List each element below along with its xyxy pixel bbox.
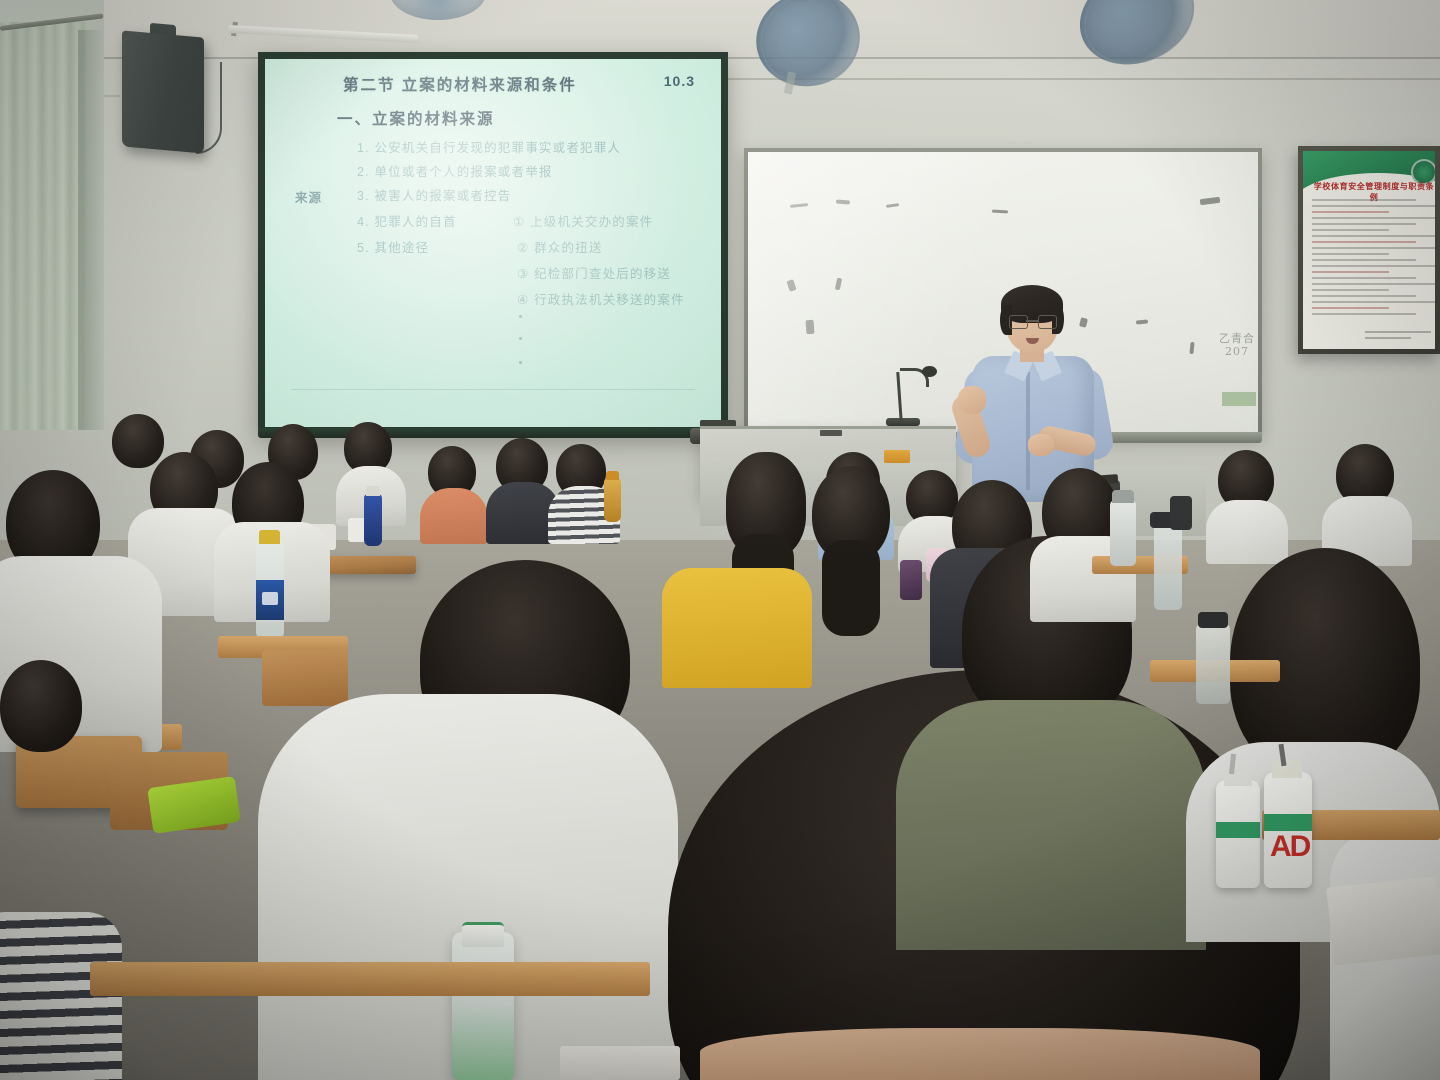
- smartphone[interactable]: [900, 560, 922, 600]
- slide-bullet-dot: [519, 361, 522, 364]
- slide-title: 第二节 立案的材料来源和条件: [343, 73, 643, 95]
- student-torso-yellow: [662, 568, 812, 688]
- classroom-photo: 第二节 立案的材料来源和条件 10.3 一、立案的材料来源 来源 1. 公安机关…: [0, 0, 1440, 1080]
- blue-thermos: [364, 494, 382, 546]
- ad-milk-logo-text: AD: [1270, 832, 1309, 862]
- bottle-cap: [259, 530, 280, 544]
- slide-heading: 一、立案的材料来源: [337, 107, 495, 129]
- open-notebook: [1326, 876, 1440, 965]
- microphone-head[interactable]: [922, 366, 937, 377]
- ceiling: [0, 0, 1440, 58]
- bottle-cap: [606, 471, 619, 480]
- paper-sheet: [560, 1046, 680, 1080]
- projection-screen: 第二节 立案的材料来源和条件 10.3 一、立案的材料来源 来源 1. 公安机关…: [265, 59, 721, 427]
- bottle-cap: [1198, 612, 1228, 628]
- water-bottle: [1154, 524, 1182, 610]
- water-bottle: [1110, 500, 1136, 566]
- water-bottle-foreground: [452, 932, 514, 1080]
- student-ponytail: [822, 540, 880, 636]
- wall-poster-frame: 学校体育安全管理制度与职责条例: [1298, 146, 1440, 354]
- microphone-base[interactable]: [886, 418, 920, 426]
- slide-left-item-5: 5. 其他途径: [357, 237, 429, 256]
- slide-left-item-4: 4. 犯罪人的自首: [357, 211, 457, 230]
- whiteboard-green-tab: [1222, 392, 1256, 406]
- wall-speaker: [122, 30, 204, 153]
- bottle-label-mark: [262, 592, 278, 605]
- student-head: [112, 414, 164, 468]
- wall-poster: 学校体育安全管理制度与职责条例: [1303, 151, 1435, 349]
- slide-right-item-2: ② 群众的扭送: [517, 237, 603, 256]
- lectern-vent: [820, 430, 842, 436]
- whiteboard-handwriting: 乙青合207: [1216, 332, 1258, 388]
- student-torso: [0, 912, 122, 1080]
- slide-bullet-dot: [519, 337, 522, 340]
- slide-right-item-3: ③ 纪检部门查处后的移送: [517, 263, 671, 282]
- slide-page-number: 10.3: [664, 73, 695, 89]
- poster-signature: [1365, 331, 1431, 343]
- slide-left-item-3: 3. 被害人的报案或者控告: [357, 185, 512, 204]
- bottle-cap: [1112, 490, 1134, 503]
- student-torso: [1206, 500, 1288, 564]
- lecturer-right-hand: [1028, 434, 1054, 456]
- lecturer-left-fist: [958, 386, 986, 414]
- water-bottle: [1196, 624, 1230, 704]
- screen-bottom-rail: [258, 428, 728, 438]
- speaker-cable: [196, 62, 222, 154]
- ad-milk-band: [1216, 822, 1260, 838]
- student-torso: [420, 488, 488, 544]
- student-neck-nearest: [700, 1028, 1260, 1080]
- slide-side-label: 来源: [295, 187, 322, 206]
- lectern-label: [884, 450, 910, 463]
- dark-thermos: [1170, 496, 1192, 530]
- slide-right-item-4: ④ 行政执法机关移送的案件: [517, 289, 685, 308]
- student-desk-foreground: [90, 962, 650, 996]
- lecturer-glasses-left: [1009, 315, 1028, 329]
- lecturer-glasses-bridge: [1026, 320, 1038, 322]
- projection-screen-frame: 第二节 立案的材料来源和条件 10.3 一、立案的材料来源 来源 1. 公安机关…: [258, 52, 728, 434]
- student-head: [0, 660, 82, 752]
- slide-right-item-1: ① 上级机关交办的案件: [513, 211, 653, 230]
- slide-bullet-dot: [519, 315, 522, 318]
- slide-divider: [291, 389, 695, 390]
- ad-milk-cap: [1272, 760, 1302, 778]
- chair-back: [262, 650, 348, 706]
- thermos-cap: [366, 486, 380, 496]
- bottle-cap: [462, 922, 504, 947]
- curtain-shadow: [78, 30, 104, 430]
- slide-left-item-2: 2. 单位或者个人的报案或者举报: [357, 161, 553, 180]
- window-curtain: [0, 22, 86, 430]
- poster-body-text: [1312, 199, 1435, 343]
- slide-left-item-1: 1. 公安机关自行发现的犯罪事实或者犯罪人: [357, 137, 621, 156]
- lecturer-shirt-placket: [1026, 372, 1030, 490]
- amber-bottle: [604, 478, 621, 522]
- lecturer-glasses-right: [1038, 315, 1057, 329]
- student-torso-olive: [896, 700, 1206, 950]
- ad-milk-band: [1264, 814, 1312, 831]
